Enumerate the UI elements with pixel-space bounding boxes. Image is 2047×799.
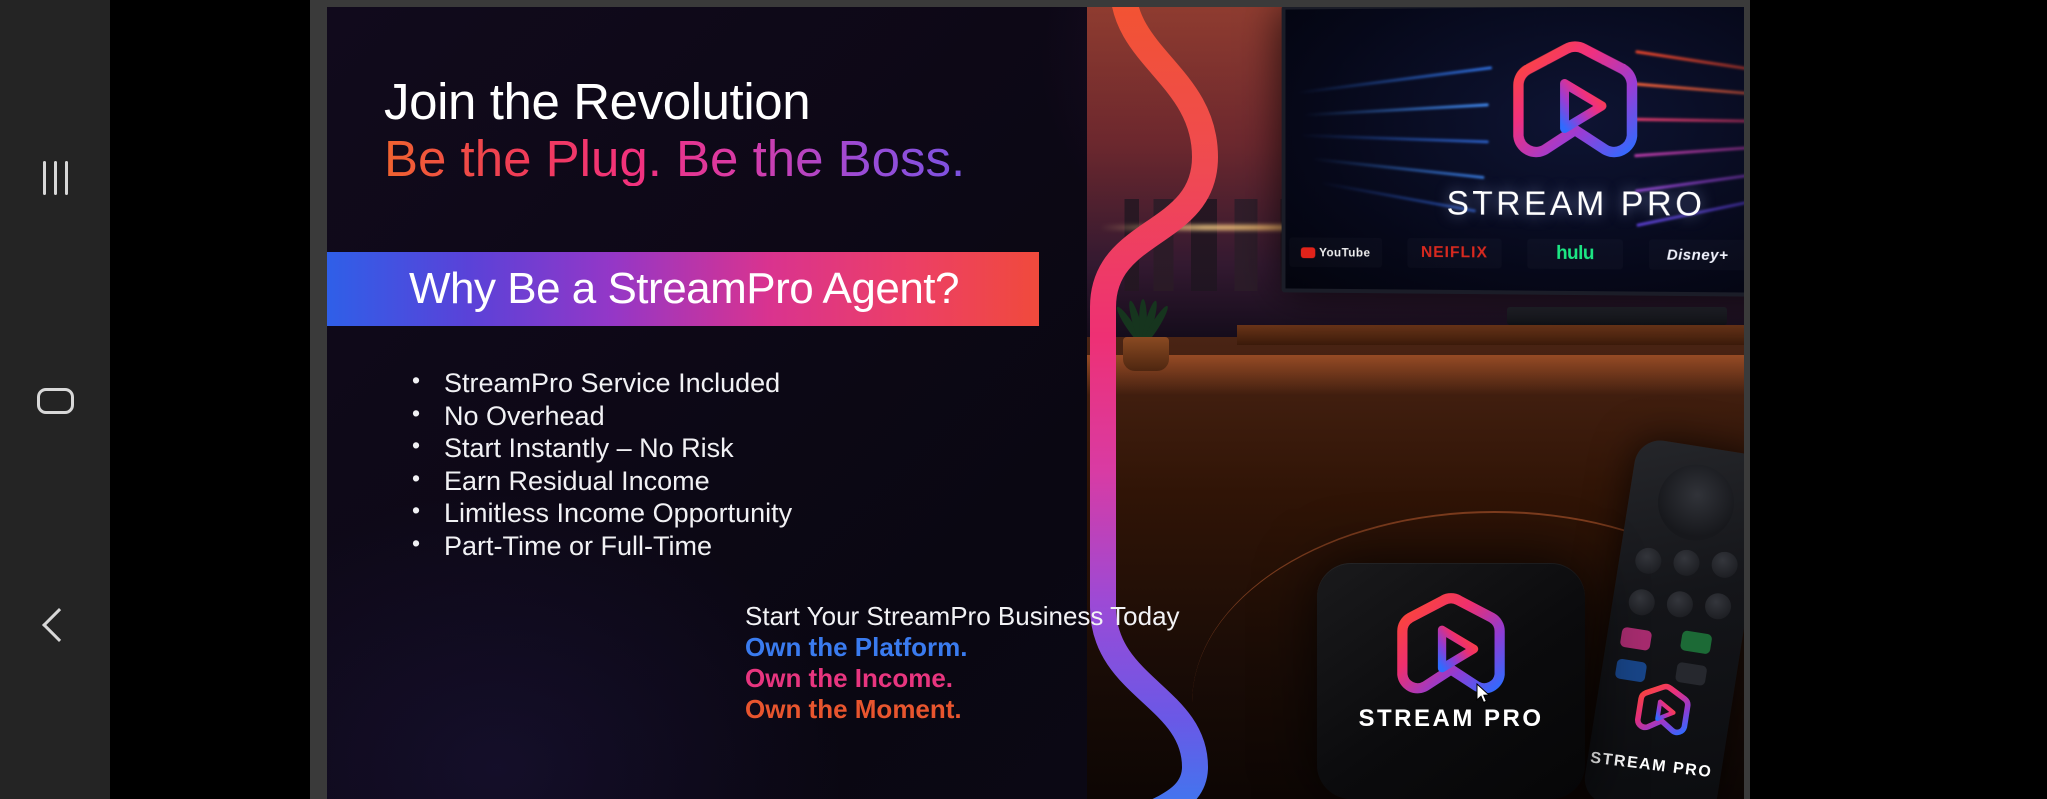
slide-text-column: Join the Revolution Be the Plug. Be the …: [327, 7, 1147, 799]
cta-own-income: Own the Income.: [745, 665, 1180, 691]
back-button[interactable]: [0, 580, 110, 670]
right-gutter: [1748, 0, 2047, 799]
service-label-disney-plus: Disney+: [1667, 246, 1728, 264]
television: STREAM PRO YouTube NEIFLIX hulu Disney+: [1282, 7, 1744, 298]
android-navigation-bar: Recents Home Back: [0, 0, 110, 799]
cta-own-platform: Own the Platform.: [745, 634, 1180, 660]
screen: Recents Home Back: [0, 0, 2047, 799]
remote-brand-title: STREAM PRO: [1581, 748, 1722, 783]
remote-button-rewind: [1633, 546, 1663, 576]
remote-button-play: [1665, 589, 1695, 619]
list-item: Limitless Income Opportunity: [410, 500, 792, 527]
streaming-services-row: YouTube NEIFLIX hulu Disney+ prime video: [1285, 237, 1744, 271]
home-icon: [37, 388, 74, 414]
youtube-icon: [1301, 247, 1315, 258]
mouse-cursor: [1476, 683, 1492, 705]
list-item: No Overhead: [410, 403, 792, 430]
service-logo-disney-plus: Disney+: [1649, 239, 1744, 270]
headline-primary: Join the Revolution: [384, 75, 810, 129]
left-gutter: [110, 0, 310, 799]
remote-button-forward: [1703, 591, 1733, 621]
streampro-logo-tv: [1501, 30, 1650, 186]
cta-heading: Start Your StreamPro Business Today: [745, 603, 1180, 629]
remote-button-power: [1710, 550, 1740, 580]
back-chevron-icon: [42, 608, 76, 642]
service-label-netflix: NEIFLIX: [1421, 244, 1488, 262]
recents-icon: [43, 161, 68, 195]
service-logo-netflix: NEIFLIX: [1407, 238, 1501, 268]
viewer-frame-top: [310, 0, 1750, 7]
remote-shortcut-1: [1620, 627, 1653, 651]
list-item: Part-Time or Full-Time: [410, 533, 792, 560]
streaming-box: STREAM PRO: [1317, 563, 1585, 799]
service-label-hulu: hulu: [1556, 243, 1594, 265]
list-item: StreamPro Service Included: [410, 370, 792, 397]
streampro-logo-box: [1387, 585, 1515, 718]
remote-button-volume-down: [1627, 587, 1657, 617]
service-logo-youtube: YouTube: [1289, 237, 1382, 267]
why-banner-text: Why Be a StreamPro Agent?: [409, 264, 959, 314]
tv-brand-title: STREAM PRO: [1285, 184, 1744, 225]
media-console: [1237, 325, 1744, 345]
box-brand-title: STREAM PRO: [1317, 705, 1585, 733]
product-photo: STREAM PRO YouTube NEIFLIX hulu Disney+: [1087, 7, 1744, 799]
remote-shortcut-2: [1680, 630, 1713, 654]
recents-button[interactable]: [0, 133, 110, 223]
why-banner: Why Be a StreamPro Agent?: [327, 252, 1039, 326]
slide-canvas[interactable]: STREAM PRO YouTube NEIFLIX hulu Disney+: [327, 7, 1744, 799]
headline-secondary: Be the Plug. Be the Boss.: [384, 132, 965, 186]
call-to-action-block: Start Your StreamPro Business Today Own …: [745, 603, 1180, 727]
soundbar: [1507, 307, 1727, 325]
service-logo-hulu: hulu: [1527, 239, 1623, 270]
cta-own-moment: Own the Moment.: [745, 696, 1180, 722]
benefits-list: StreamPro Service Included No Overhead S…: [410, 370, 792, 565]
streampro-logo-remote: [1627, 676, 1699, 752]
remote-button-settings: [1672, 548, 1702, 578]
list-item: Earn Residual Income: [410, 468, 792, 495]
list-item: Start Instantly – No Risk: [410, 435, 792, 462]
remote-dpad: [1653, 459, 1740, 546]
home-button[interactable]: [0, 356, 110, 446]
viewer-frame-left: [310, 0, 327, 799]
service-label-youtube: YouTube: [1319, 245, 1370, 259]
